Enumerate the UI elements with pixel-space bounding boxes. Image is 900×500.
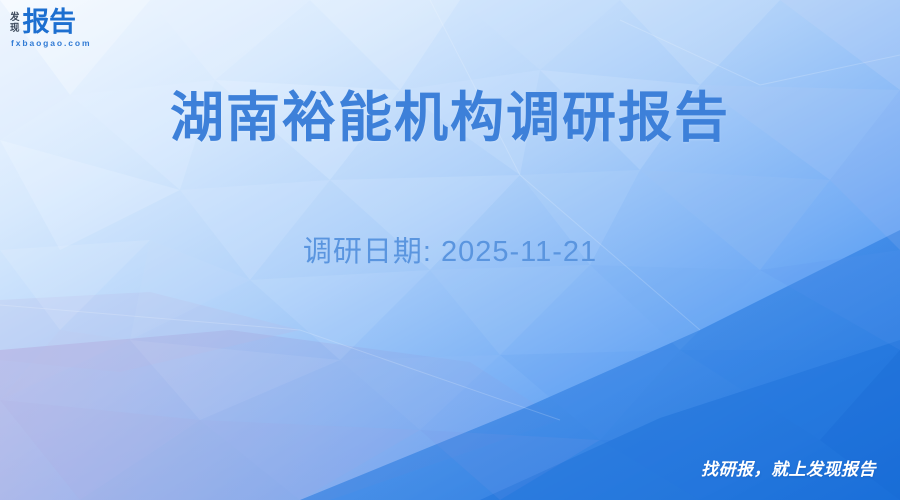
page-title: 湖南裕能机构调研报告 (0, 86, 900, 150)
report-cover: 发 现 报告 fxbaogao.com 湖南裕能机构调研报告 调研日期: 202… (0, 0, 900, 500)
logo-row: 发 现 报告 (10, 8, 76, 37)
logo-url: fxbaogao.com (11, 38, 91, 48)
logo-stacked-bottom: 现 (10, 23, 20, 34)
logo-stacked-top: 发 (10, 12, 20, 23)
survey-date-subtitle: 调研日期: 2025-11-21 (0, 232, 900, 272)
logo-stacked-chars: 发 现 (10, 11, 20, 34)
site-logo[interactable]: 发 现 报告 fxbaogao.com (10, 8, 91, 48)
logo-wordmark: 报告 (23, 8, 76, 37)
footer-slogan: 找研报，就上发现报告 (701, 455, 876, 480)
